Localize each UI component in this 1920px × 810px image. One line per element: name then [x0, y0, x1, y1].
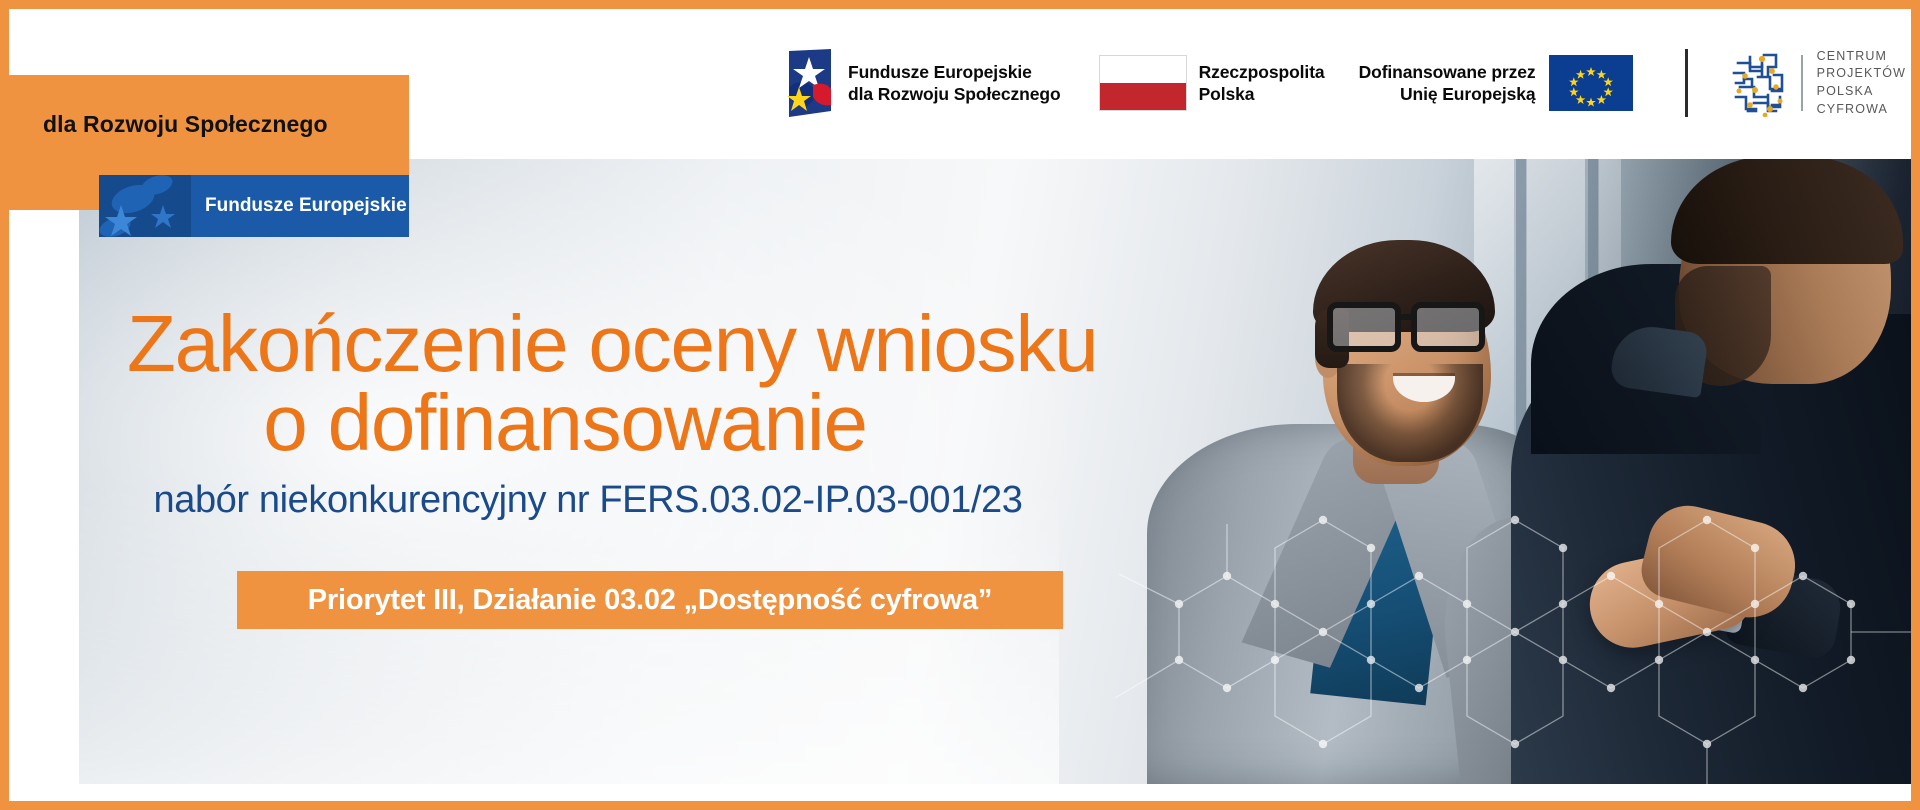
- hair-back: [1671, 159, 1903, 264]
- logo-cppc-label: CENTRUM PROJEKTÓW POLSKA CYFROWA: [1817, 48, 1907, 119]
- logo-strip: Fundusze Europejskie dla Rozwoju Społecz…: [779, 47, 1906, 119]
- cppc-logo-rule: [1801, 55, 1803, 111]
- logo-dofinansowane-przez-ue-label: Dofinansowane przez Unię Europejską: [1359, 61, 1536, 106]
- logo-rzeczpospolita-polska-label: Rzeczpospolita Polska: [1199, 61, 1325, 106]
- priority-banner-label: Priorytet III, Działanie 03.02 „Dostępno…: [308, 584, 992, 617]
- hero-photo-panel: Zakończenie oceny wniosku o dofinansowan…: [79, 159, 1911, 784]
- call-number-subtitle: nabór niekonkurencyjny nr FERS.03.02-IP.…: [79, 479, 1199, 522]
- logo-fundusze-europejskie-label: Fundusze Europejskie dla Rozwoju Społecz…: [848, 61, 1061, 106]
- fe-badge-stars-icon: [99, 175, 191, 237]
- handshake: [1589, 514, 1839, 704]
- eu-funds-flag-icon: [779, 49, 837, 117]
- logo-divider: [1685, 49, 1688, 117]
- logo-rzeczpospolita-polska: Rzeczpospolita Polska: [1099, 47, 1325, 119]
- headline-block: Zakończenie oceny wniosku o dofinansowan…: [79, 304, 1199, 522]
- logo-centrum-projektow-polska-cyfrowa: CENTRUM PROJEKTÓW POLSKA CYFROWA: [1728, 47, 1907, 119]
- eu-flag-icon: [1549, 55, 1633, 111]
- logo-dofinansowane-przez-ue: Dofinansowane przez Unię Europejską: [1359, 47, 1633, 119]
- priority-banner: Priorytet III, Działanie 03.02 „Dostępno…: [237, 571, 1063, 629]
- orange-overlay-label: dla Rozwoju Społecznego: [43, 111, 328, 138]
- logo-fundusze-europejskie: Fundusze Europejskie dla Rozwoju Społecz…: [779, 47, 1061, 119]
- page-title-line-1: Zakończenie oceny wniosku: [79, 304, 1199, 383]
- fe-badge-label: Fundusze Europejskie: [205, 195, 407, 217]
- page-title-line-2: o dofinansowanie: [79, 383, 1199, 462]
- poster-page: Fundusze Europejskie dla Rozwoju Społecz…: [0, 0, 1920, 810]
- cppc-circuit-map-icon: [1728, 49, 1790, 117]
- fundusze-europejskie-badge: Fundusze Europejskie: [99, 175, 409, 237]
- photo-haze: [79, 484, 1059, 784]
- polish-flag-icon: [1099, 55, 1187, 111]
